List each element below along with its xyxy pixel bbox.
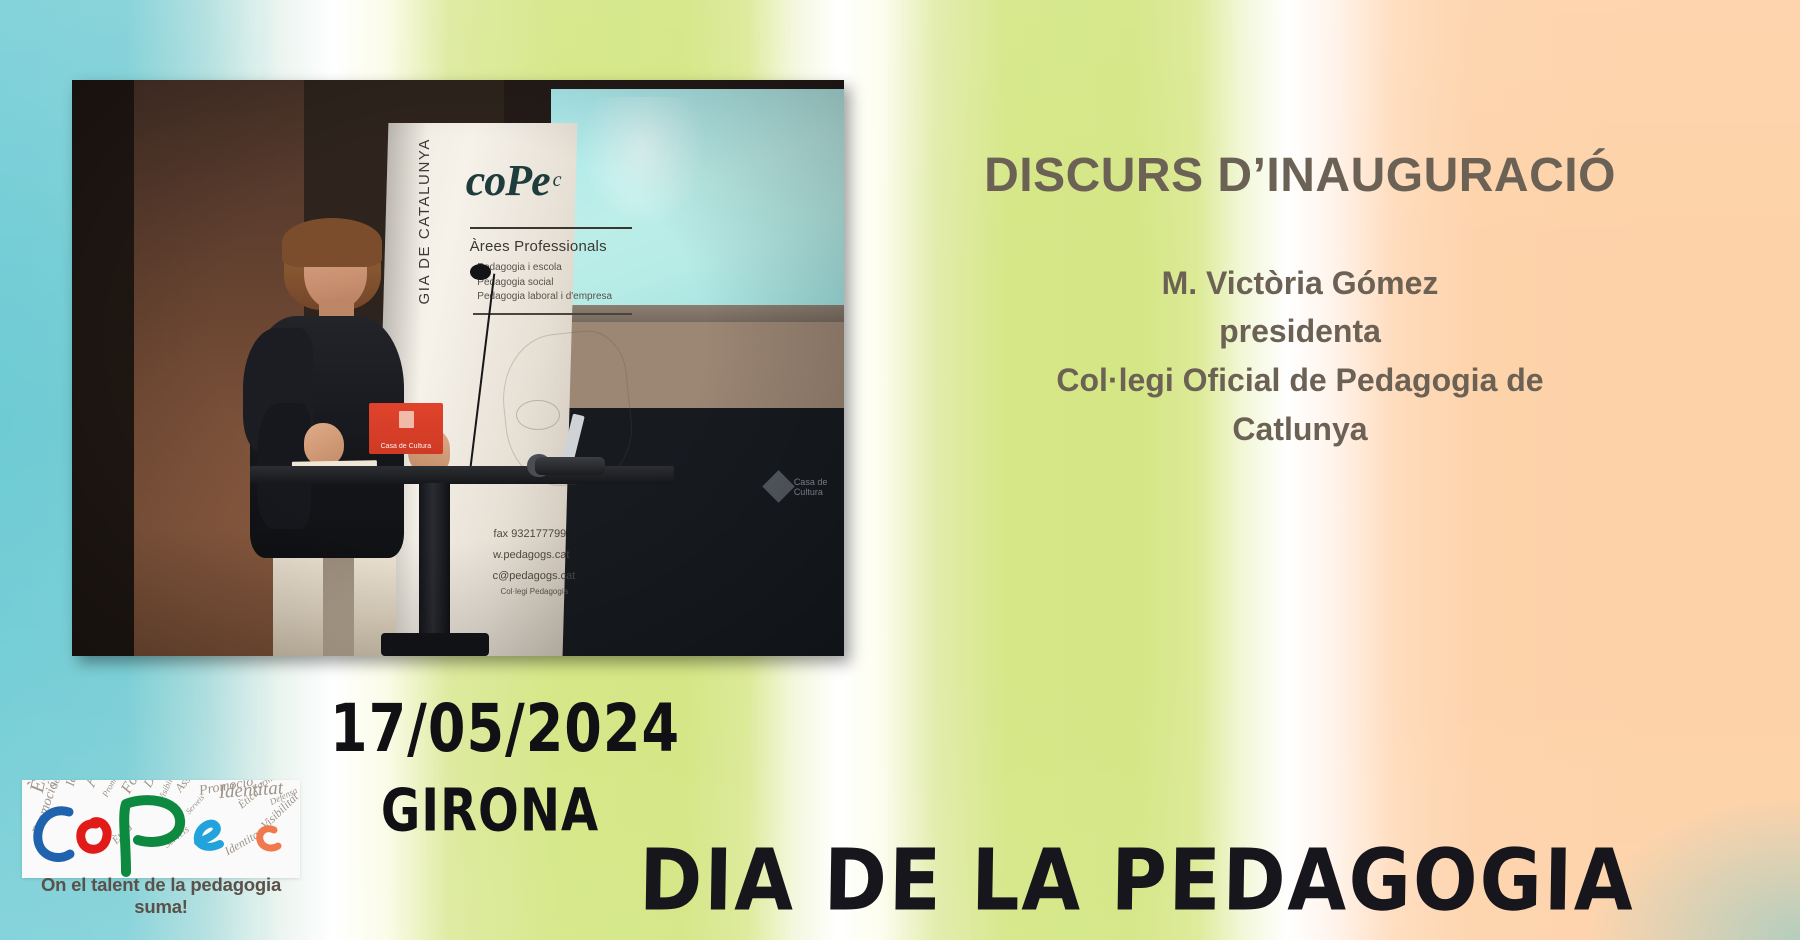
copec-logo: ÈticaServeisIdentitatAcompanyamentPromoc…: [22, 780, 300, 878]
copec-letter-p: [124, 800, 180, 872]
copec-lettermark: [22, 780, 300, 878]
photo-vignette: [72, 80, 844, 656]
speaker-photo: GIA DE CATALUNYA coPe c Àrees Profession…: [72, 80, 844, 656]
event-headline: DIA DE LA PEDAGOGIA: [638, 830, 1800, 930]
speaker-org-line-2: Catlunya: [860, 405, 1740, 454]
copec-letter-o: [81, 822, 107, 850]
copec-letter-e: [198, 824, 220, 847]
speaker-org-line-1: Col·legi Oficial de Pedagogia de: [860, 356, 1740, 405]
page-title: DISCURS D’INAUGURACIÓ: [860, 150, 1740, 203]
event-city: GIRONA: [330, 777, 650, 845]
copec-letter-c2: [260, 829, 278, 848]
event-date: 17/05/2024: [330, 690, 650, 767]
speaker-role: presidenta: [860, 307, 1740, 356]
speaker-name: M. Victòria Gómez: [860, 259, 1740, 308]
title-spacer: [860, 203, 1740, 259]
slide-canvas: GIA DE CATALUNYA coPe c Àrees Profession…: [0, 0, 1800, 940]
event-date-block: 17/05/2024 GIRONA: [330, 690, 650, 833]
copec-letter-c: [38, 811, 70, 858]
speech-info-block: DISCURS D’INAUGURACIÓ M. Victòria Gómez …: [860, 150, 1740, 453]
logo-tagline: On el talent de la pedagogia suma!: [22, 874, 300, 918]
